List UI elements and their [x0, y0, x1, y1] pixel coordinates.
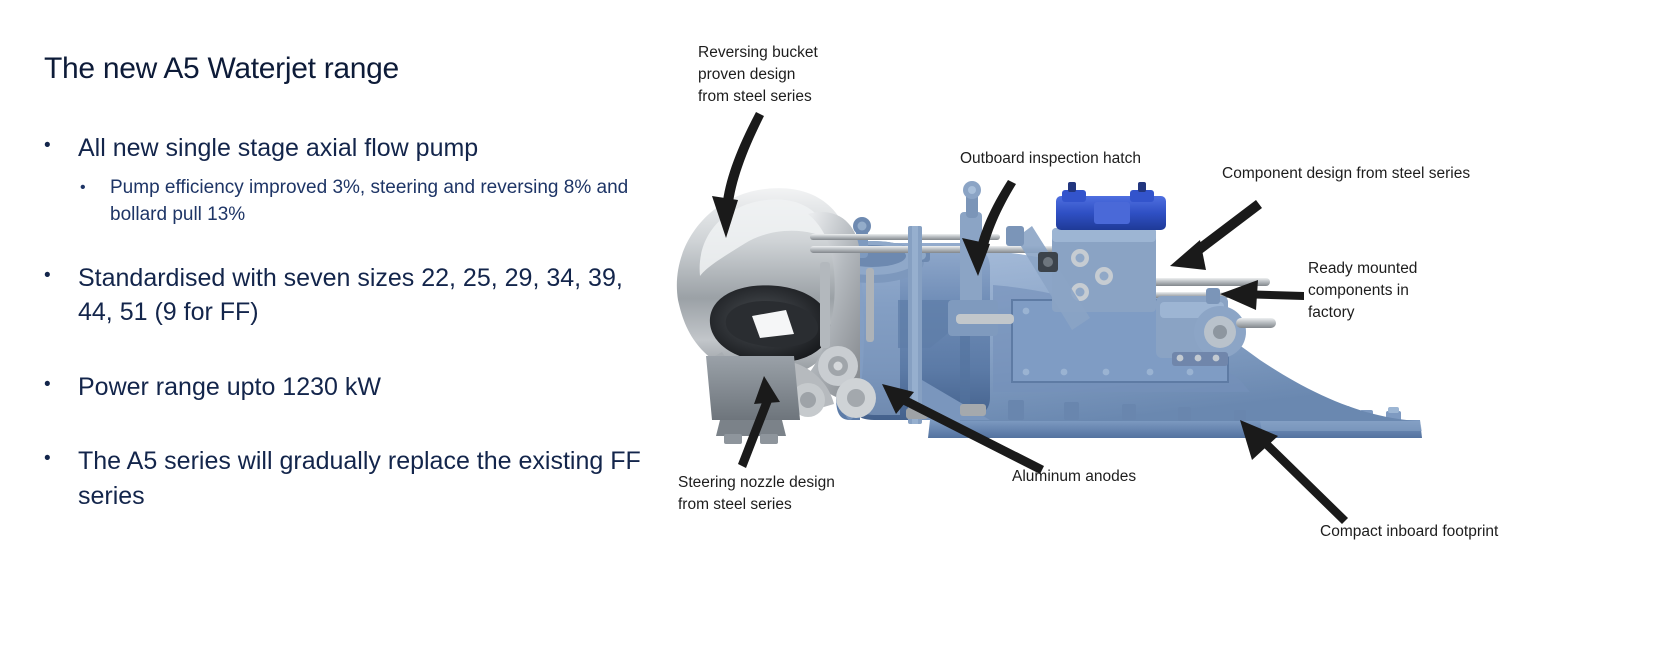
list-item: • Standardised with seven sizes 22, 25, …: [44, 261, 654, 330]
content-text-column: The new A5 Waterjet range • All new sing…: [44, 52, 654, 523]
waterjet-figure: Reversing bucket proven design from stee…: [660, 0, 1660, 645]
list-item-label: The A5 series will gradually replace the…: [78, 444, 654, 513]
spacer: [44, 414, 654, 444]
list-item-sub-label: Pump efficiency improved 3%, steering an…: [110, 175, 654, 229]
callout-outboard-inspection-hatch: Outboard inspection hatch: [960, 148, 1141, 170]
bullet-marker: •: [44, 131, 78, 162]
bullet-marker: •: [44, 261, 78, 292]
slide-canvas: The new A5 Waterjet range • All new sing…: [0, 0, 1660, 645]
ready-mounted-components: [1156, 288, 1276, 366]
steering-nozzle: [677, 188, 876, 444]
list-item: • The A5 series will gradually replace t…: [44, 444, 654, 513]
spacer: [44, 229, 654, 261]
page-title: The new A5 Waterjet range: [44, 52, 654, 87]
list-item-label: Standardised with seven sizes 22, 25, 29…: [78, 261, 654, 330]
bullet-marker: •: [80, 175, 110, 201]
spacer: [44, 340, 654, 370]
list-item-sub: • Pump efficiency improved 3%, steering …: [80, 175, 654, 229]
bullet-marker: •: [44, 370, 78, 401]
callout-compact-inboard-footprint: Compact inboard footprint: [1320, 521, 1498, 543]
callout-reversing-bucket: Reversing bucket proven design from stee…: [698, 42, 818, 108]
list-item: • All new single stage axial flow pump: [44, 131, 654, 166]
list-item: • Power range upto 1230 kW: [44, 370, 654, 405]
bullet-marker: •: [44, 444, 78, 475]
callout-ready-mounted-components: Ready mounted components in factory: [1308, 258, 1417, 324]
list-item-label: Power range upto 1230 kW: [78, 370, 654, 405]
callout-steering-nozzle: Steering nozzle design from steel series: [678, 472, 835, 516]
callout-aluminum-anodes: Aluminum anodes: [1012, 466, 1136, 488]
callout-component-design: Component design from steel series: [1222, 163, 1470, 185]
list-item-label: All new single stage axial flow pump: [78, 131, 654, 166]
